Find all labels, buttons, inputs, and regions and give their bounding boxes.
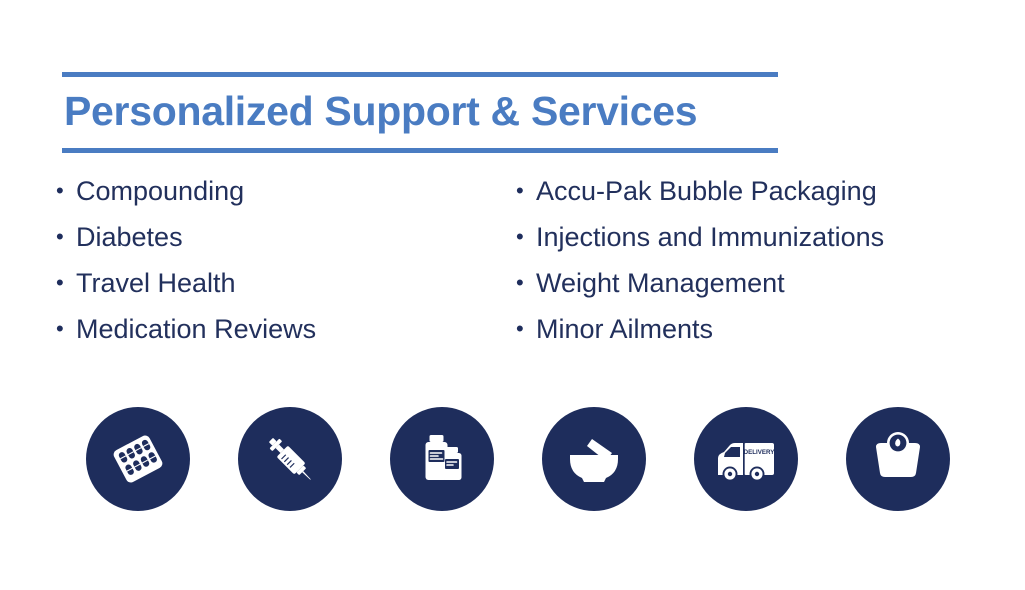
list-item: Compounding bbox=[56, 178, 500, 224]
service-label: Compounding bbox=[76, 178, 244, 205]
service-label: Diabetes bbox=[76, 224, 183, 251]
icon-badge-syringe bbox=[238, 407, 342, 511]
bullet-icon bbox=[56, 226, 76, 248]
list-item: Minor Ailments bbox=[516, 316, 1025, 362]
weight-scale-icon bbox=[868, 429, 928, 489]
service-label: Medication Reviews bbox=[76, 316, 316, 343]
bullet-icon bbox=[56, 318, 76, 340]
icon-badge-blister-pack bbox=[86, 407, 190, 511]
bullet-icon bbox=[516, 318, 536, 340]
list-item: Weight Management bbox=[516, 270, 1025, 316]
list-item: Injections and Immunizations bbox=[516, 224, 1025, 270]
list-item: Accu-Pak Bubble Packaging bbox=[516, 178, 1025, 224]
page-title: Personalized Support & Services bbox=[62, 77, 778, 148]
bullet-icon bbox=[516, 226, 536, 248]
slide-canvas: Personalized Support & Services Compound… bbox=[0, 0, 1025, 590]
service-label: Accu-Pak Bubble Packaging bbox=[536, 178, 877, 205]
service-icon-row: DELIVERY bbox=[86, 407, 1002, 511]
service-label: Travel Health bbox=[76, 270, 236, 297]
service-label: Minor Ailments bbox=[536, 316, 713, 343]
title-block: Personalized Support & Services bbox=[62, 72, 778, 153]
mortar-pestle-icon bbox=[562, 427, 626, 491]
list-item: Diabetes bbox=[56, 224, 500, 270]
bullet-icon bbox=[56, 180, 76, 202]
list-item: Travel Health bbox=[56, 270, 500, 316]
delivery-truck-icon: DELIVERY bbox=[713, 426, 779, 492]
icon-badge-delivery-truck: DELIVERY bbox=[694, 407, 798, 511]
syringe-icon bbox=[259, 428, 321, 490]
blister-pack-icon bbox=[107, 428, 169, 490]
bullet-icon bbox=[516, 180, 536, 202]
list-item: Medication Reviews bbox=[56, 316, 500, 362]
title-rule-bottom bbox=[62, 148, 778, 153]
truck-delivery-text: DELIVERY bbox=[744, 449, 776, 456]
icon-badge-weight-scale bbox=[846, 407, 950, 511]
icon-badge-medicine-bottles bbox=[390, 407, 494, 511]
service-label: Weight Management bbox=[536, 270, 785, 297]
bullet-icon bbox=[516, 272, 536, 294]
bullet-icon bbox=[56, 272, 76, 294]
services-right-column: Accu-Pak Bubble Packaging Injections and… bbox=[500, 178, 1025, 362]
icon-badge-mortar-pestle bbox=[542, 407, 646, 511]
medicine-bottles-icon bbox=[411, 428, 473, 490]
services-left-column: Compounding Diabetes Travel Health Medic… bbox=[0, 178, 500, 362]
services-columns: Compounding Diabetes Travel Health Medic… bbox=[0, 178, 1025, 362]
service-label: Injections and Immunizations bbox=[536, 224, 884, 251]
